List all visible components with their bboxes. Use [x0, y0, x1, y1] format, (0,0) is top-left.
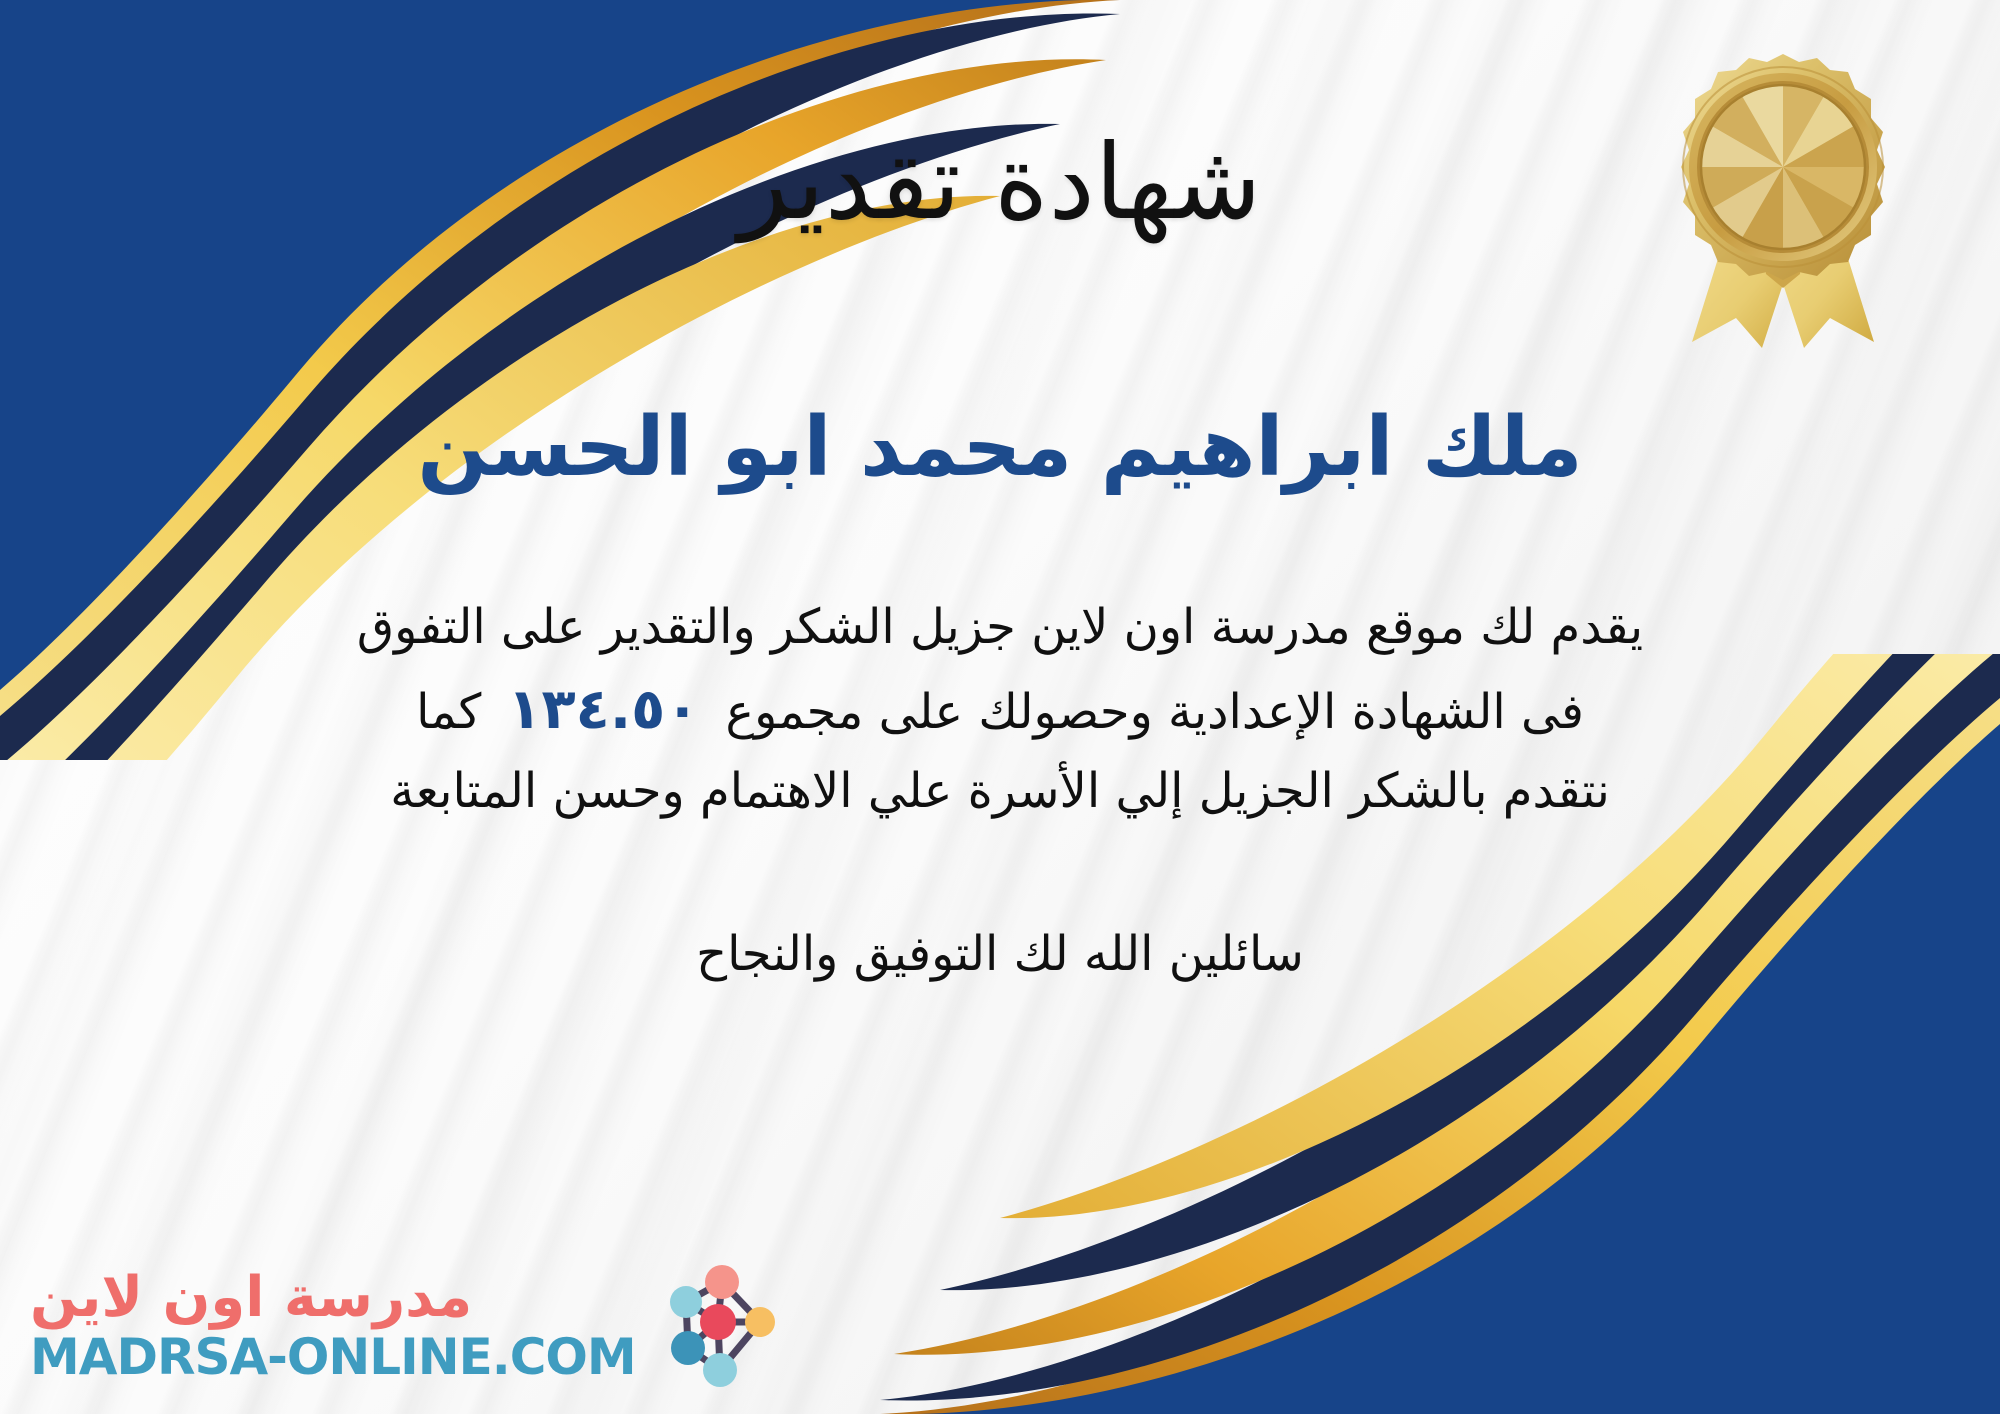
total-score-value: ١٣٤.٥٠: [481, 666, 725, 754]
closing-wish: سائلين الله لك التوفيق والنجاح: [696, 926, 1304, 982]
body-line-2-suffix: كما: [416, 684, 481, 740]
certificate-content: شهادة تقدير ملك ابراهيم محمد ابو الحسن ي…: [0, 0, 2000, 1414]
node-red: [700, 1304, 736, 1340]
node-sky-upper: [670, 1286, 702, 1318]
recipient-name: ملك ابراهيم محمد ابو الحسن: [417, 402, 1582, 494]
body-line-1: يقدم لك موقع مدرسة اون لاين جزيل الشكر و…: [60, 590, 1940, 666]
node-coral: [705, 1265, 739, 1299]
certificate-body: يقدم لك موقع مدرسة اون لاين جزيل الشكر و…: [60, 590, 1940, 830]
certificate-title: شهادة تقدير: [738, 130, 1261, 234]
node-teal: [671, 1331, 705, 1365]
body-line-2-prefix: فى الشهادة الإعدادية وحصولك على مجموع: [725, 684, 1583, 740]
brand-logo[interactable]: مدرسة اون لاين MADRSA-ONLINE.COM: [30, 1260, 776, 1392]
node-amber: [745, 1307, 775, 1337]
body-line-3: نتقدم بالشكر الجزيل إلي الأسرة علي الاهت…: [60, 754, 1940, 830]
brand-text: مدرسة اون لاين MADRSA-ONLINE.COM: [30, 1270, 636, 1382]
node-sky-lower: [703, 1353, 737, 1387]
brand-website: MADRSA-ONLINE.COM: [30, 1332, 636, 1382]
brand-name-arabic: مدرسة اون لاين: [30, 1270, 472, 1326]
certificate-canvas: شهادة تقدير ملك ابراهيم محمد ابو الحسن ي…: [0, 0, 2000, 1414]
body-line-2: فى الشهادة الإعدادية وحصولك على مجموع١٣٤…: [60, 666, 1940, 754]
network-nodes-icon: [648, 1260, 776, 1392]
